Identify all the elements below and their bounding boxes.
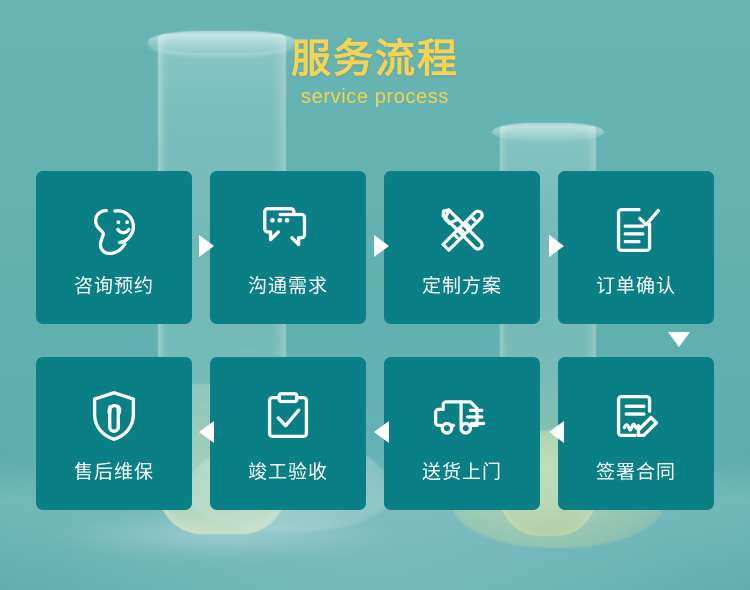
step-card-label: 签署合同 [596,463,676,482]
step-card-label: 送货上门 [422,463,502,482]
step-card-delivery[interactable]: 送货上门 [384,357,540,510]
arrow-right-icon [549,235,564,257]
contract-pen-icon [603,383,669,449]
phone-smile-icon [81,197,147,263]
service-process-banner: 服务流程 service process 咨询预约 [0,0,750,590]
step-card-custom-plan[interactable]: 定制方案 [384,171,540,324]
arrow-left-icon [199,421,214,443]
pencil-ruler-icon [429,197,495,263]
step-card-after-sales[interactable]: 售后维保 [36,357,192,510]
page-subtitle: service process [0,86,750,108]
arrow-left-icon [549,421,564,443]
shield-wrench-icon [81,383,147,449]
process-row-1: 咨询预约 沟通需求 [36,171,714,324]
step-card-communicate-needs[interactable]: 沟通需求 [210,171,366,324]
process-row-2: 售后维保 竣工验收 [36,357,714,510]
arrow-down-icon [668,332,690,347]
step-card-label: 沟通需求 [248,277,328,296]
step-card-acceptance[interactable]: 竣工验收 [210,357,366,510]
chat-bubbles-icon [255,197,321,263]
delivery-truck-icon [429,383,495,449]
step-card-label: 咨询预约 [74,277,154,296]
step-card-label: 定制方案 [422,277,502,296]
step-card-label: 竣工验收 [248,463,328,482]
arrow-left-icon [374,421,389,443]
step-card-order-confirm[interactable]: 订单确认 [558,171,714,324]
page-title-block: 服务流程 service process [0,38,750,108]
step-card-label: 售后维保 [74,463,154,482]
page-title: 服务流程 [0,38,750,80]
step-card-label: 订单确认 [596,277,676,296]
step-card-sign-contract[interactable]: 签署合同 [558,357,714,510]
document-check-icon [603,197,669,263]
step-card-consultation[interactable]: 咨询预约 [36,171,192,324]
process-steps-grid: 咨询预约 沟通需求 [36,171,714,510]
arrow-right-icon [199,235,214,257]
arrow-right-icon [374,235,389,257]
clipboard-check-icon [255,383,321,449]
